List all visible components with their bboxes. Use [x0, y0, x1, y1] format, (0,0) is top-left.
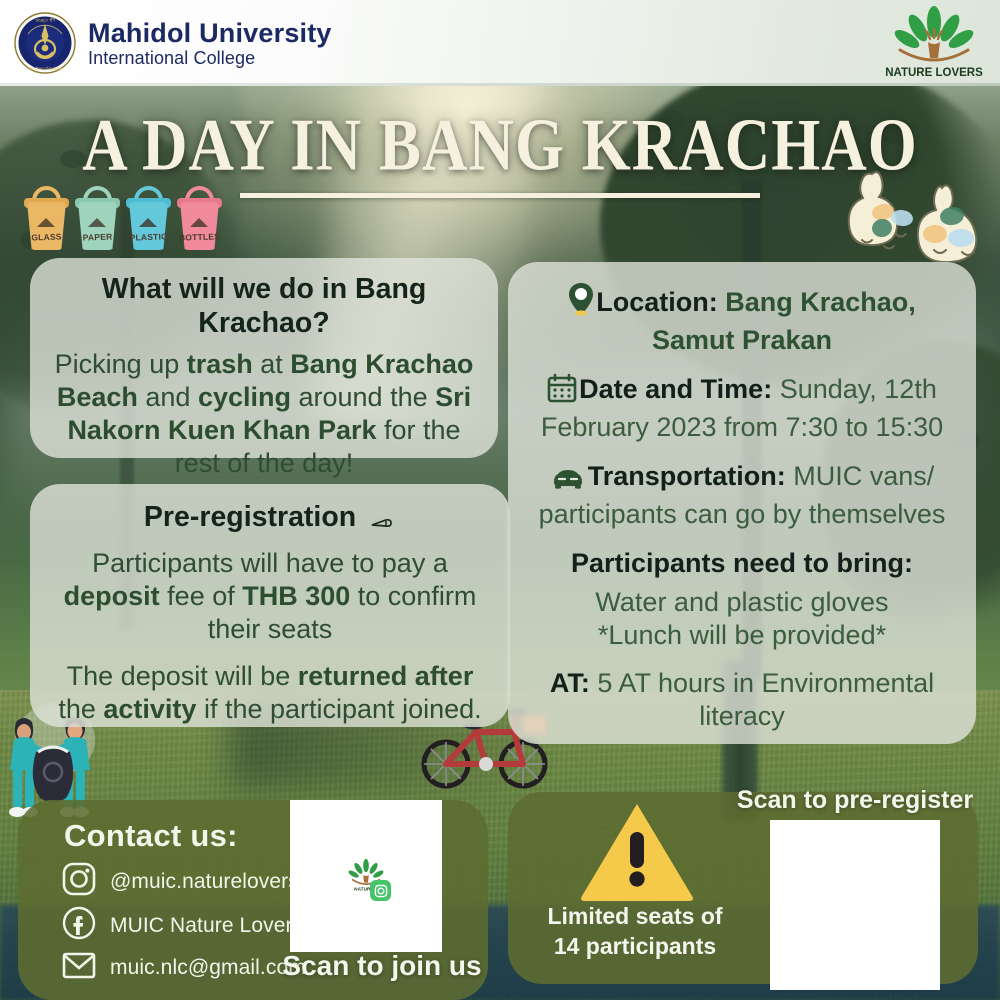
bin-label: GLASS	[24, 231, 69, 243]
warning-triangle-icon	[578, 800, 696, 902]
seats-line-1: Limited seats of	[520, 902, 750, 932]
date-time-line: Date and Time: Sunday, 12th February 202…	[524, 373, 960, 444]
recycling-bin: GLASS	[24, 186, 69, 252]
bin-label: BOTTLES	[177, 231, 222, 243]
what-we-do-body: Picking up trash at Bang Krachao Beach a…	[52, 348, 476, 480]
instagram-icon	[370, 880, 391, 901]
facebook-icon	[62, 906, 96, 945]
location-line: Location: Bang Krachao, Samut Prakan	[524, 282, 960, 357]
bring-line: Participants need to bring:	[524, 547, 960, 580]
bin-label: PAPER	[75, 231, 120, 243]
facebook-page-name: MUIC Nature Lovers	[110, 914, 303, 938]
recycling-bin: PLASTIC	[126, 186, 171, 252]
car-icon	[550, 465, 586, 498]
limited-seats-text: Limited seats of 14 participants	[520, 902, 750, 962]
university-name-block: Mahidol University International College	[88, 18, 332, 68]
what-we-do-card: What will we do in Bang Krachao? Picking…	[30, 258, 498, 458]
qr-join-caption: Scan to join us	[262, 950, 502, 982]
svg-text:ปญฺญา ชีวี: ปญฺญา ชีวี	[35, 18, 55, 24]
qr-code-preregister[interactable]	[770, 820, 940, 990]
title-underline	[240, 193, 760, 198]
pre-registration-card: Pre-registration Participants will have …	[30, 484, 510, 727]
pre-registration-paragraph-2: The deposit will be returned after the a…	[50, 660, 490, 726]
header-bar: ปญฺญา ชีวี มหาวิทยาลัยมหิดล Mahidol Univ…	[0, 0, 1000, 86]
bring-value-2: *Lunch will be provided*	[524, 619, 960, 652]
qr-center-logo: NATURE L	[343, 853, 389, 899]
pen-icon	[370, 505, 394, 539]
pre-registration-heading: Pre-registration	[50, 500, 490, 539]
club-logo-text: NATURE LOVERS	[885, 67, 983, 79]
calendar-icon	[547, 373, 577, 411]
svg-text:มหาวิทยาลัยมหิดล: มหาวิทยาลัยมหิดล	[28, 66, 62, 71]
nature-lovers-tree-icon: NATURE LOVERS	[878, 6, 990, 82]
instagram-icon	[62, 862, 96, 901]
university-name: Mahidol University	[88, 18, 332, 48]
email-icon	[62, 950, 96, 985]
at-hours-line: AT: 5 AT hours in Environmental literacy	[524, 667, 960, 733]
bring-value-1: Water and plastic gloves	[524, 586, 960, 619]
bin-label: PLASTIC	[126, 231, 171, 243]
seats-line-2: 14 participants	[520, 932, 750, 962]
map-pin-icon	[568, 282, 594, 324]
faculty-name: International College	[88, 48, 332, 68]
event-details-card: Location: Bang Krachao, Samut Prakan Dat…	[508, 262, 976, 744]
recycling-bins-illustration: GLASS PAPER PLASTIC BOTTLES	[24, 186, 224, 252]
qr-code-join[interactable]: NATURE L	[290, 800, 442, 952]
qr-prereg-caption: Scan to pre-register	[720, 786, 990, 815]
recycling-bin: PAPER	[75, 186, 120, 252]
what-we-do-heading: What will we do in Bang Krachao?	[52, 272, 476, 340]
contact-facebook[interactable]: MUIC Nature Lovers	[62, 906, 303, 945]
pre-registration-paragraph-1: Participants will have to pay a deposit …	[50, 547, 490, 646]
transportation-line: Transportation: MUIC vans/ participants …	[524, 460, 960, 531]
mahidol-seal-icon: ปญฺญา ชีวี มหาวิทยาลัยมหิดล	[14, 12, 76, 74]
contact-title: Contact us:	[64, 818, 238, 854]
recycling-bin: BOTTLES	[177, 186, 222, 252]
poster-canvas: ปญฺญา ชีวี มหาวิทยาลัยมหิดล Mahidol Univ…	[0, 0, 1000, 1000]
